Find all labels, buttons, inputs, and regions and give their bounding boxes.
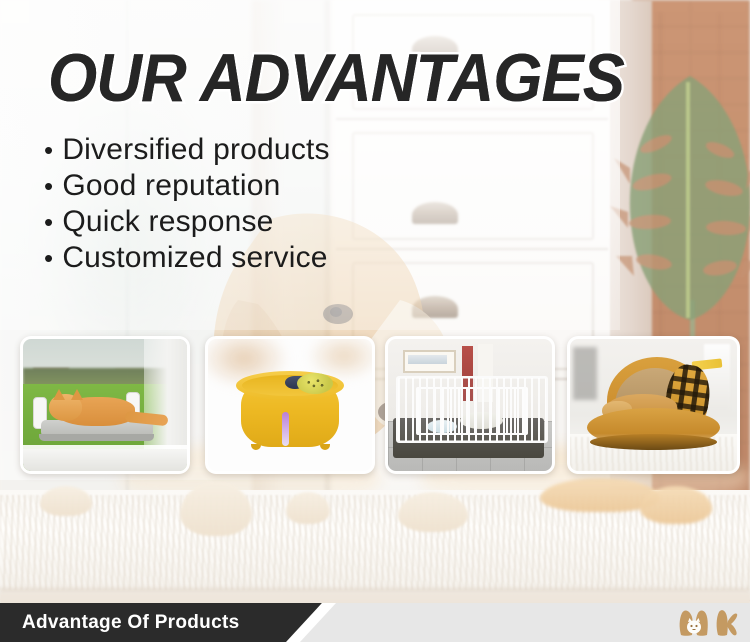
brand-logo [676, 603, 738, 642]
list-item-label: Good reputation [62, 168, 280, 203]
list-item: • Customized service [44, 240, 330, 276]
list-item: • Quick response [44, 204, 330, 240]
product-image-cat-window-perch [23, 339, 187, 471]
dog-paw [398, 492, 468, 532]
product-card-cat-window-perch[interactable] [20, 336, 190, 474]
fountain-spout-holes [300, 376, 330, 392]
cat-perch-edge [39, 434, 154, 441]
wall-picture-art [408, 355, 447, 364]
list-item: • Diversified products [44, 132, 330, 168]
furniture-shadow [573, 347, 596, 400]
bullet-icon: • [44, 205, 53, 240]
water-level-indicator [282, 412, 289, 446]
product-image-hooded-pet-bed [570, 339, 737, 471]
bed-base-rim [590, 434, 717, 450]
playpen-front-panel [396, 376, 548, 443]
product-card-pet-water-fountain[interactable] [205, 336, 375, 474]
bullet-icon: • [44, 169, 53, 204]
footer-bar: Advantage Of Products [0, 603, 750, 642]
list-item-label: Diversified products [62, 132, 329, 167]
advantages-list: • Diversified products • Good reputation… [44, 132, 330, 276]
list-item-label: Customized service [62, 240, 327, 275]
cat-ear [71, 389, 83, 400]
dog-paw [40, 486, 92, 516]
dog-paw [286, 492, 330, 524]
product-image-wire-pet-playpen [388, 339, 552, 471]
mk-logo-icon [676, 608, 738, 638]
bullet-icon: • [44, 133, 53, 168]
bullet-icon: • [44, 241, 53, 276]
product-card-hooded-pet-bed[interactable] [567, 336, 740, 474]
product-card-wire-pet-playpen[interactable] [385, 336, 555, 474]
product-thumbnail-row [0, 336, 750, 476]
list-item: • Good reputation [44, 168, 330, 204]
dog-paw [640, 486, 712, 524]
advantages-banner: OUR ADVANTAGES OUR ADVANTAGES • Diversif… [0, 0, 750, 642]
footer-caption: Advantage Of Products [22, 603, 239, 642]
list-item-label: Quick response [62, 204, 273, 239]
cat-ear [53, 389, 65, 400]
page-title: OUR ADVANTAGES [48, 42, 624, 114]
product-image-pet-water-fountain [208, 339, 372, 471]
window-frame-bottom [23, 449, 187, 471]
